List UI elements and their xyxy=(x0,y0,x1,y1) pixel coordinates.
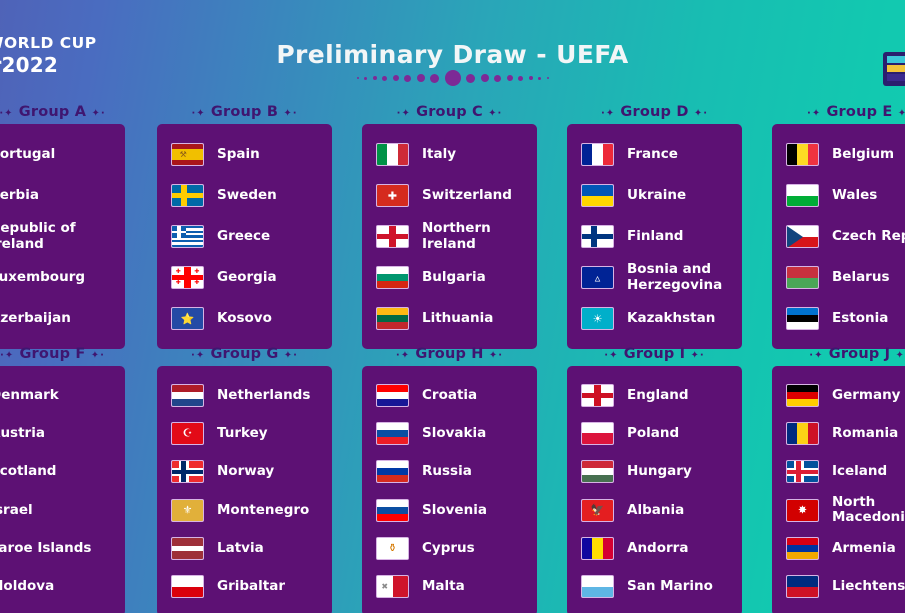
team-row[interactable]: Norway xyxy=(157,454,332,490)
team-name: Romania xyxy=(832,426,898,441)
greece-flag xyxy=(171,225,204,248)
group-header-group-d: ·✦ Group D ✦· xyxy=(567,100,742,124)
team-name: Kosovo xyxy=(217,311,272,326)
team-row[interactable]: Finland xyxy=(567,219,742,255)
group-label-text: Group E xyxy=(826,104,892,120)
title-dot xyxy=(445,70,461,86)
wales-flag: 🐉 xyxy=(786,184,819,207)
group-deco-right: ✦· xyxy=(91,350,105,361)
team-row[interactable]: 🐉Wales xyxy=(772,178,905,214)
team-name: Greece xyxy=(217,229,270,244)
team-row[interactable]: Latvia xyxy=(157,530,332,566)
team-row[interactable]: ☀Kazakhstan xyxy=(567,301,742,337)
page-title: Preliminary Draw - UEFA xyxy=(0,40,905,69)
gibraltar-flag: ☗ xyxy=(171,575,204,598)
group-deco-right: ✦· xyxy=(284,350,298,361)
team-row[interactable]: Belarus xyxy=(772,260,905,296)
finland-flag xyxy=(581,225,614,248)
san-marino-flag: ⚜ xyxy=(581,575,614,598)
slovakia-flag: ★ xyxy=(376,422,409,445)
team-row[interactable]: ⚜Montenegro xyxy=(157,492,332,528)
montenegro-flag: ⚜ xyxy=(171,499,204,522)
team-name: Denmark xyxy=(0,388,59,403)
malta-flag: ✖ xyxy=(376,575,409,598)
team-row[interactable]: Sweden xyxy=(157,178,332,214)
team-name: Andorra xyxy=(627,541,688,556)
team-row[interactable]: Azerbaijan xyxy=(0,301,125,337)
team-name: Faroe Islands xyxy=(0,541,91,556)
team-row[interactable]: Croatia xyxy=(362,377,537,413)
team-row[interactable]: ✸North Macedonia xyxy=(772,492,905,528)
team-name: Sweden xyxy=(217,188,277,203)
title-dot xyxy=(404,75,411,82)
group-column-group-d: ·✦ Group D ✦· France Ukraine Finland▵Bos… xyxy=(567,100,742,349)
group-header-group-g: ·✦ Group G ✦· xyxy=(157,342,332,366)
team-row[interactable]: Poland xyxy=(567,415,742,451)
team-row[interactable]: Serbia xyxy=(0,178,125,214)
group-deco-left: ·✦ xyxy=(191,350,205,361)
team-name: Latvia xyxy=(217,541,264,556)
lithuania-flag xyxy=(376,307,409,330)
team-name: Belarus xyxy=(832,270,890,285)
ukraine-flag xyxy=(581,184,614,207)
czech-republic-flag xyxy=(786,225,819,248)
team-name: Slovenia xyxy=(422,503,487,518)
title-dot xyxy=(529,76,533,80)
team-name: Czech Republic xyxy=(832,229,905,244)
group-card: Italy✚Switzerland Northern Ireland Bulga… xyxy=(362,124,537,349)
team-row[interactable]: Republic of Ireland xyxy=(0,219,125,255)
group-column-group-b: ·✦ Group B ✦· ⚒Spain SwedenGreece ✚ ✚ ✚ … xyxy=(157,100,332,349)
team-row[interactable]: ☗Gribaltar xyxy=(157,569,332,605)
team-name: Republic of Ireland xyxy=(0,221,76,251)
group-column-group-c: ·✦ Group C ✦· Italy✚Switzerland Northern… xyxy=(362,100,537,349)
team-name: Finland xyxy=(627,229,683,244)
team-row[interactable]: Austria xyxy=(0,415,125,451)
group-header-group-c: ·✦ Group C ✦· xyxy=(362,100,537,124)
albania-flag: 🦅 xyxy=(581,499,614,522)
team-name: Slovakia xyxy=(422,426,486,441)
team-row[interactable]: Russia xyxy=(362,454,537,490)
team-name: San Marino xyxy=(627,579,713,594)
group-card: Netherlands☪Turkey Norway⚜Montenegro Lat… xyxy=(157,366,332,613)
team-name: Albania xyxy=(627,503,684,518)
team-row[interactable]: Lithuania xyxy=(362,301,537,337)
kazakhstan-flag: ☀ xyxy=(581,307,614,330)
team-row[interactable]: ★Slovakia xyxy=(362,415,537,451)
title-dot xyxy=(357,77,359,79)
georgia-flag: ✚ ✚ ✚ ✚ xyxy=(171,266,204,289)
group-label-text: Group B xyxy=(211,104,278,120)
group-header-group-a: ·✦ Group A ✦· xyxy=(0,100,125,124)
team-row[interactable]: Romania xyxy=(772,415,905,451)
team-name: Moldova xyxy=(0,579,54,594)
team-name: Poland xyxy=(627,426,679,441)
russia-flag xyxy=(376,460,409,483)
team-name: Scotland xyxy=(0,464,56,479)
group-deco-left: ·✦ xyxy=(396,350,410,361)
groups-board: ·✦ Group A ✦·PortugalSerbiaRepublic of I… xyxy=(0,100,905,613)
slovenia-flag: ▲ xyxy=(376,499,409,522)
group-column-group-j: ·✦ Group J ✦· Germany Romania Iceland✸No… xyxy=(772,342,905,613)
poland-flag xyxy=(581,422,614,445)
switzerland-flag: ✚ xyxy=(376,184,409,207)
group-deco-right: ✦· xyxy=(488,108,502,119)
croatia-flag xyxy=(376,384,409,407)
group-column-group-g: ·✦ Group G ✦· Netherlands☪Turkey Norway⚜… xyxy=(157,342,332,613)
andorra-flag: ⚜ xyxy=(581,537,614,560)
team-name: Germany xyxy=(832,388,900,403)
england-flag xyxy=(581,384,614,407)
title-dot xyxy=(507,75,513,81)
team-row[interactable]: Hungary xyxy=(567,454,742,490)
title-dot xyxy=(430,74,439,83)
group-column-group-i: ·✦ Group I ✦· England Poland Hungary🦅Alb… xyxy=(567,342,742,613)
team-name: Georgia xyxy=(217,270,277,285)
team-row[interactable]: Luxembourg xyxy=(0,260,125,296)
group-deco-left: ·✦ xyxy=(0,108,14,119)
kosovo-flag: ⭐ xyxy=(171,307,204,330)
group-card: Germany Romania Iceland✸North Macedonia … xyxy=(772,366,905,613)
title-dot xyxy=(466,74,475,83)
team-row[interactable]: Germany xyxy=(772,377,905,413)
team-row[interactable]: Moldova xyxy=(0,569,125,605)
title-dot xyxy=(417,74,425,82)
romania-flag xyxy=(786,422,819,445)
armenia-flag xyxy=(786,537,819,560)
belarus-flag xyxy=(786,266,819,289)
sweden-flag xyxy=(171,184,204,207)
team-row[interactable]: France xyxy=(567,137,742,173)
team-name: North Macedonia xyxy=(832,495,905,525)
group-deco-right: ✦· xyxy=(91,108,105,119)
group-label-text: Group D xyxy=(620,104,688,120)
team-name: Turkey xyxy=(217,426,268,441)
title-dot xyxy=(382,76,387,81)
team-name: Switzerland xyxy=(422,188,512,203)
cyprus-flag: ⚱ xyxy=(376,537,409,560)
group-header-group-e: ·✦ Group E ✦· xyxy=(772,100,905,124)
northern-ireland-flag xyxy=(376,225,409,248)
team-row[interactable]: ▲Slovenia xyxy=(362,492,537,528)
team-row[interactable]: ▵Bosnia and Herzegovina xyxy=(567,260,742,296)
group-header-group-f: ·✦ Group F ✦· xyxy=(0,342,125,366)
team-name: Gribaltar xyxy=(217,579,285,594)
team-row[interactable]: England xyxy=(567,377,742,413)
netherlands-flag xyxy=(171,384,204,407)
team-row[interactable]: Faroe Islands xyxy=(0,530,125,566)
team-name: Iceland xyxy=(832,464,887,479)
bulgaria-flag xyxy=(376,266,409,289)
liechtenstein-flag: ♚ xyxy=(786,575,819,598)
team-row[interactable]: Israel xyxy=(0,492,125,528)
title-dot xyxy=(518,76,523,81)
group-card: France Ukraine Finland▵Bosnia and Herzeg… xyxy=(567,124,742,349)
title-dot xyxy=(547,77,549,79)
group-card: ⚒Spain SwedenGreece ✚ ✚ ✚ ✚Georgia⭐Kosov… xyxy=(157,124,332,349)
team-row[interactable]: ✚Switzerland xyxy=(362,178,537,214)
team-row[interactable]: Bulgaria xyxy=(362,260,537,296)
belgium-flag xyxy=(786,143,819,166)
team-name: Azerbaijan xyxy=(0,311,71,326)
team-name: Austria xyxy=(0,426,45,441)
group-card: DenmarkAustriaScotlandIsraelFaroe Island… xyxy=(0,366,125,613)
group-column-group-f: ·✦ Group F ✦·DenmarkAustriaScotlandIsrae… xyxy=(0,342,125,613)
team-name: England xyxy=(627,388,689,403)
group-label-text: Group F xyxy=(19,346,85,362)
team-name: Armenia xyxy=(832,541,896,556)
team-row[interactable]: Belgium xyxy=(772,137,905,173)
iceland-flag xyxy=(786,460,819,483)
group-deco-left: ·✦ xyxy=(397,108,411,119)
team-row[interactable]: ⚜Andorra xyxy=(567,530,742,566)
group-card: Croatia ★Slovakia Russia ▲Slovenia⚱Cypru… xyxy=(362,366,537,613)
team-row[interactable]: ⚜San Marino xyxy=(567,569,742,605)
team-name: Montenegro xyxy=(217,503,309,518)
team-name: Ukraine xyxy=(627,188,686,203)
team-name: France xyxy=(627,147,678,162)
team-row[interactable]: Czech Republic xyxy=(772,219,905,255)
team-name: Malta xyxy=(422,579,465,594)
group-label-text: Group I xyxy=(624,346,686,362)
team-name: Croatia xyxy=(422,388,477,403)
italy-flag xyxy=(376,143,409,166)
spain-flag: ⚒ xyxy=(171,143,204,166)
qatar-2022-badge-icon xyxy=(883,52,905,86)
team-row[interactable]: ⭐Kosovo xyxy=(157,301,332,337)
badge-stripe-teal xyxy=(887,56,905,63)
title-dot xyxy=(538,77,541,80)
group-deco-right: ✦· xyxy=(694,108,708,119)
group-label-text: Group G xyxy=(210,346,278,362)
team-name: Bulgaria xyxy=(422,270,486,285)
badge-stripe-yellow xyxy=(887,65,905,72)
hungary-flag xyxy=(581,460,614,483)
turkey-flag: ☪ xyxy=(171,422,204,445)
team-row[interactable]: ✚ ✚ ✚ ✚Georgia xyxy=(157,260,332,296)
team-name: Spain xyxy=(217,147,260,162)
team-name: Liechtenstein xyxy=(832,579,905,594)
france-flag xyxy=(581,143,614,166)
title-dot-decoration xyxy=(0,70,905,86)
team-name: Serbia xyxy=(0,188,39,203)
latvia-flag xyxy=(171,537,204,560)
group-deco-left: ·✦ xyxy=(191,108,205,119)
group-deco-right: ✦· xyxy=(283,108,297,119)
team-name: Israel xyxy=(0,503,33,518)
group-label-text: Group C xyxy=(416,104,483,120)
team-name: Netherlands xyxy=(217,388,310,403)
group-card: PortugalSerbiaRepublic of IrelandLuxembo… xyxy=(0,124,125,349)
group-header-group-b: ·✦ Group B ✦· xyxy=(157,100,332,124)
group-deco-left: ·✦ xyxy=(601,108,615,119)
group-column-group-e: ·✦ Group E ✦· Belgium 🐉Wales Czech Repub… xyxy=(772,100,905,349)
estonia-flag xyxy=(786,307,819,330)
group-column-group-h: ·✦ Group H ✦· Croatia ★Slovakia Russia ▲… xyxy=(362,342,537,613)
team-name: Russia xyxy=(422,464,472,479)
team-name: Lithuania xyxy=(422,311,493,326)
team-row[interactable]: Iceland xyxy=(772,454,905,490)
team-row[interactable]: Italy xyxy=(362,137,537,173)
team-name: Bosnia and Herzegovina xyxy=(627,262,722,292)
badge-stripe-blue xyxy=(887,74,905,81)
team-name: Kazakhstan xyxy=(627,311,715,326)
group-deco-right: ✦· xyxy=(898,108,905,119)
title-dot xyxy=(373,76,377,80)
team-name: Norway xyxy=(217,464,274,479)
group-deco-left: ·✦ xyxy=(0,350,14,361)
germany-flag xyxy=(786,384,819,407)
group-header-group-j: ·✦ Group J ✦· xyxy=(772,342,905,366)
team-name: Hungary xyxy=(627,464,692,479)
team-name: Wales xyxy=(832,188,877,203)
team-row[interactable]: Northern Ireland xyxy=(362,219,537,255)
team-row[interactable]: ☪Turkey xyxy=(157,415,332,451)
team-row[interactable]: Denmark xyxy=(0,377,125,413)
group-card: England Poland Hungary🦅Albania ⚜Andorra … xyxy=(567,366,742,613)
team-row[interactable]: Greece xyxy=(157,219,332,255)
team-row[interactable]: Estonia xyxy=(772,301,905,337)
title-dot xyxy=(364,77,367,80)
group-deco-left: ·✦ xyxy=(604,350,618,361)
team-row[interactable]: Portugal xyxy=(0,137,125,173)
group-label-text: Group A xyxy=(19,104,86,120)
title-dot xyxy=(494,75,501,82)
team-row[interactable]: Netherlands xyxy=(157,377,332,413)
team-name: Luxembourg xyxy=(0,270,85,285)
title-dot xyxy=(393,75,399,81)
team-name: Cyprus xyxy=(422,541,475,556)
group-card: Belgium 🐉Wales Czech Republic Belarus Es… xyxy=(772,124,905,349)
team-name: Italy xyxy=(422,147,456,162)
group-label-text: Group J xyxy=(829,346,891,362)
group-deco-right: ✦· xyxy=(691,350,705,361)
team-row[interactable]: ♚Liechtenstein xyxy=(772,569,905,605)
north-macedonia-flag: ✸ xyxy=(786,499,819,522)
group-column-group-a: ·✦ Group A ✦·PortugalSerbiaRepublic of I… xyxy=(0,100,125,349)
group-header-group-i: ·✦ Group I ✦· xyxy=(567,342,742,366)
title-dot xyxy=(481,74,489,82)
team-name: Belgium xyxy=(832,147,894,162)
group-deco-right: ✦· xyxy=(896,350,905,361)
team-row[interactable]: Armenia xyxy=(772,530,905,566)
group-deco-right: ✦· xyxy=(489,350,503,361)
team-row[interactable]: Ukraine xyxy=(567,178,742,214)
team-row[interactable]: ✖Malta xyxy=(362,569,537,605)
group-deco-left: ·✦ xyxy=(807,108,821,119)
bosnia-and-herzegovina-flag: ▵ xyxy=(581,266,614,289)
group-label-text: Group H xyxy=(415,346,483,362)
team-row[interactable]: ⚱Cyprus xyxy=(362,530,537,566)
group-header-group-h: ·✦ Group H ✦· xyxy=(362,342,537,366)
team-row[interactable]: Scotland xyxy=(0,454,125,490)
team-name: Portugal xyxy=(0,147,55,162)
team-row[interactable]: ⚒Spain xyxy=(157,137,332,173)
page-header: A WORLD CUP tar2022 Preliminary Draw - U… xyxy=(0,0,905,100)
team-name: Estonia xyxy=(832,311,888,326)
team-row[interactable]: 🦅Albania xyxy=(567,492,742,528)
norway-flag xyxy=(171,460,204,483)
group-deco-left: ·✦ xyxy=(809,350,823,361)
team-name: Northern Ireland xyxy=(422,221,537,251)
